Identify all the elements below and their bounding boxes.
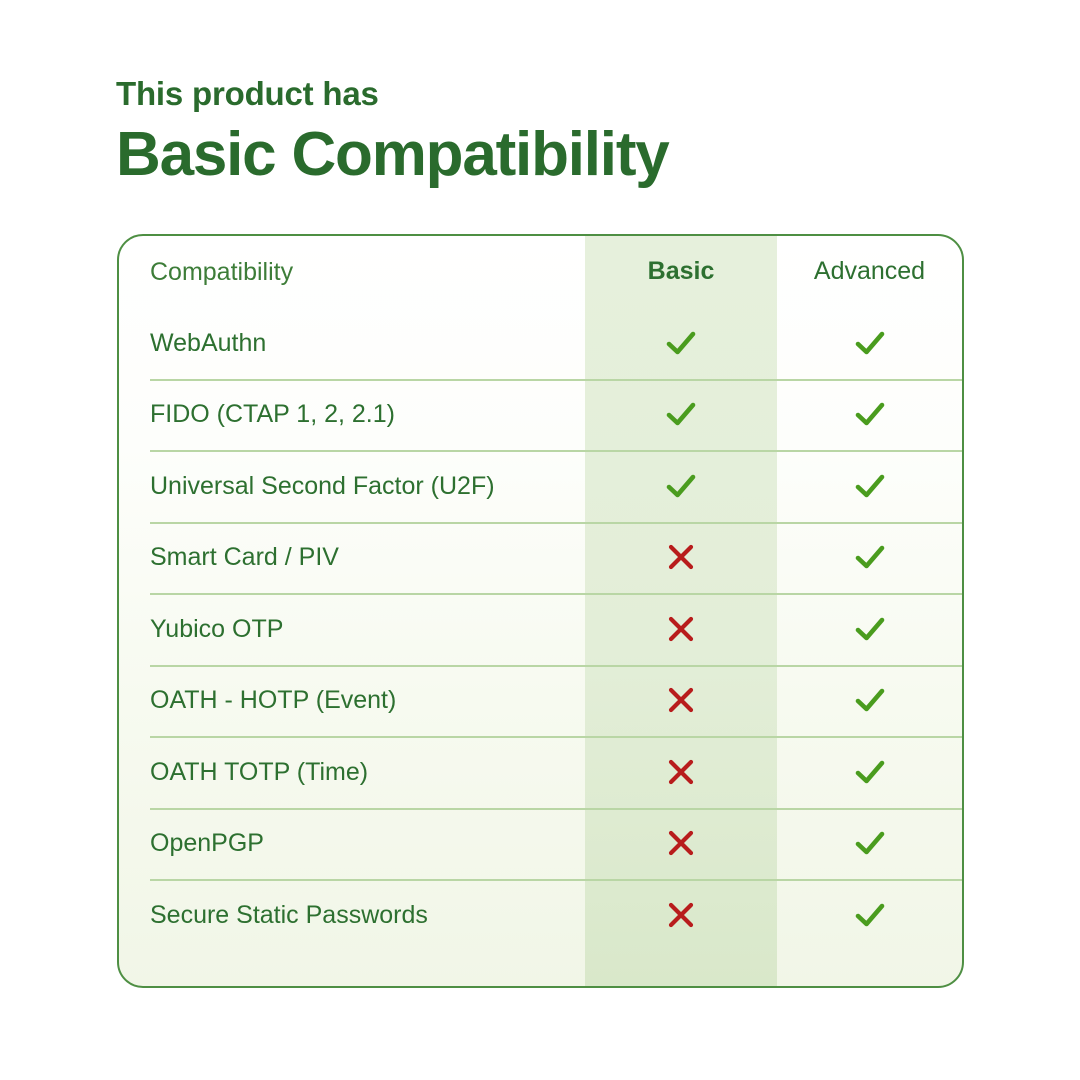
advanced-check-icon — [777, 683, 962, 717]
feature-label: OpenPGP — [119, 828, 585, 858]
compatibility-card: CompatibilityBasicAdvancedWebAuthnFIDO (… — [117, 234, 964, 988]
basic-cross-icon — [585, 612, 777, 646]
basic-cross-icon — [585, 683, 777, 717]
table-row: Secure Static Passwords — [119, 879, 962, 951]
basic-cross-icon — [585, 755, 777, 789]
advanced-check-icon — [777, 326, 962, 360]
basic-cross-icon — [585, 540, 777, 574]
basic-cross-icon — [585, 826, 777, 860]
page-title: Basic Compatibility — [116, 120, 996, 190]
advanced-check-icon — [777, 540, 962, 574]
table-row: OATH TOTP (Time) — [119, 736, 962, 808]
compatibility-infographic: This product has Basic Compatibility Com… — [0, 0, 1080, 1080]
table-row: Yubico OTP — [119, 593, 962, 665]
basic-check-icon — [585, 326, 777, 360]
advanced-check-icon — [777, 469, 962, 503]
table-row: OpenPGP — [119, 808, 962, 880]
row-divider — [150, 522, 962, 524]
row-divider — [150, 450, 962, 452]
compatibility-table: CompatibilityBasicAdvancedWebAuthnFIDO (… — [119, 236, 962, 986]
row-divider — [150, 808, 962, 810]
advanced-check-icon — [777, 397, 962, 431]
heading-block: This product has Basic Compatibility — [116, 74, 996, 190]
advanced-check-icon — [777, 612, 962, 646]
advanced-check-icon — [777, 898, 962, 932]
table-row: OATH - HOTP (Event) — [119, 665, 962, 737]
row-divider — [150, 665, 962, 667]
column-header-feature: Compatibility — [119, 257, 585, 287]
table-row: FIDO (CTAP 1, 2, 2.1) — [119, 379, 962, 451]
advanced-check-icon — [777, 826, 962, 860]
feature-label: OATH - HOTP (Event) — [119, 685, 585, 715]
basic-check-icon — [585, 397, 777, 431]
table-row: Smart Card / PIV — [119, 522, 962, 594]
feature-label: WebAuthn — [119, 328, 585, 358]
feature-label: Smart Card / PIV — [119, 542, 585, 572]
feature-label: Secure Static Passwords — [119, 900, 585, 930]
feature-label: Yubico OTP — [119, 614, 585, 644]
table-row: WebAuthn — [119, 307, 962, 379]
table-header-row: CompatibilityBasicAdvanced — [119, 236, 962, 307]
column-header-basic: Basic — [585, 257, 777, 286]
eyebrow-text: This product has — [116, 74, 996, 114]
feature-label: FIDO (CTAP 1, 2, 2.1) — [119, 399, 585, 429]
basic-check-icon — [585, 469, 777, 503]
feature-label: OATH TOTP (Time) — [119, 757, 585, 787]
row-divider — [150, 879, 962, 881]
table-row: Universal Second Factor (U2F) — [119, 450, 962, 522]
row-divider — [150, 379, 962, 381]
row-divider — [150, 593, 962, 595]
basic-cross-icon — [585, 898, 777, 932]
feature-label: Universal Second Factor (U2F) — [119, 471, 585, 501]
column-header-advanced: Advanced — [777, 257, 962, 286]
advanced-check-icon — [777, 755, 962, 789]
row-divider — [150, 736, 962, 738]
